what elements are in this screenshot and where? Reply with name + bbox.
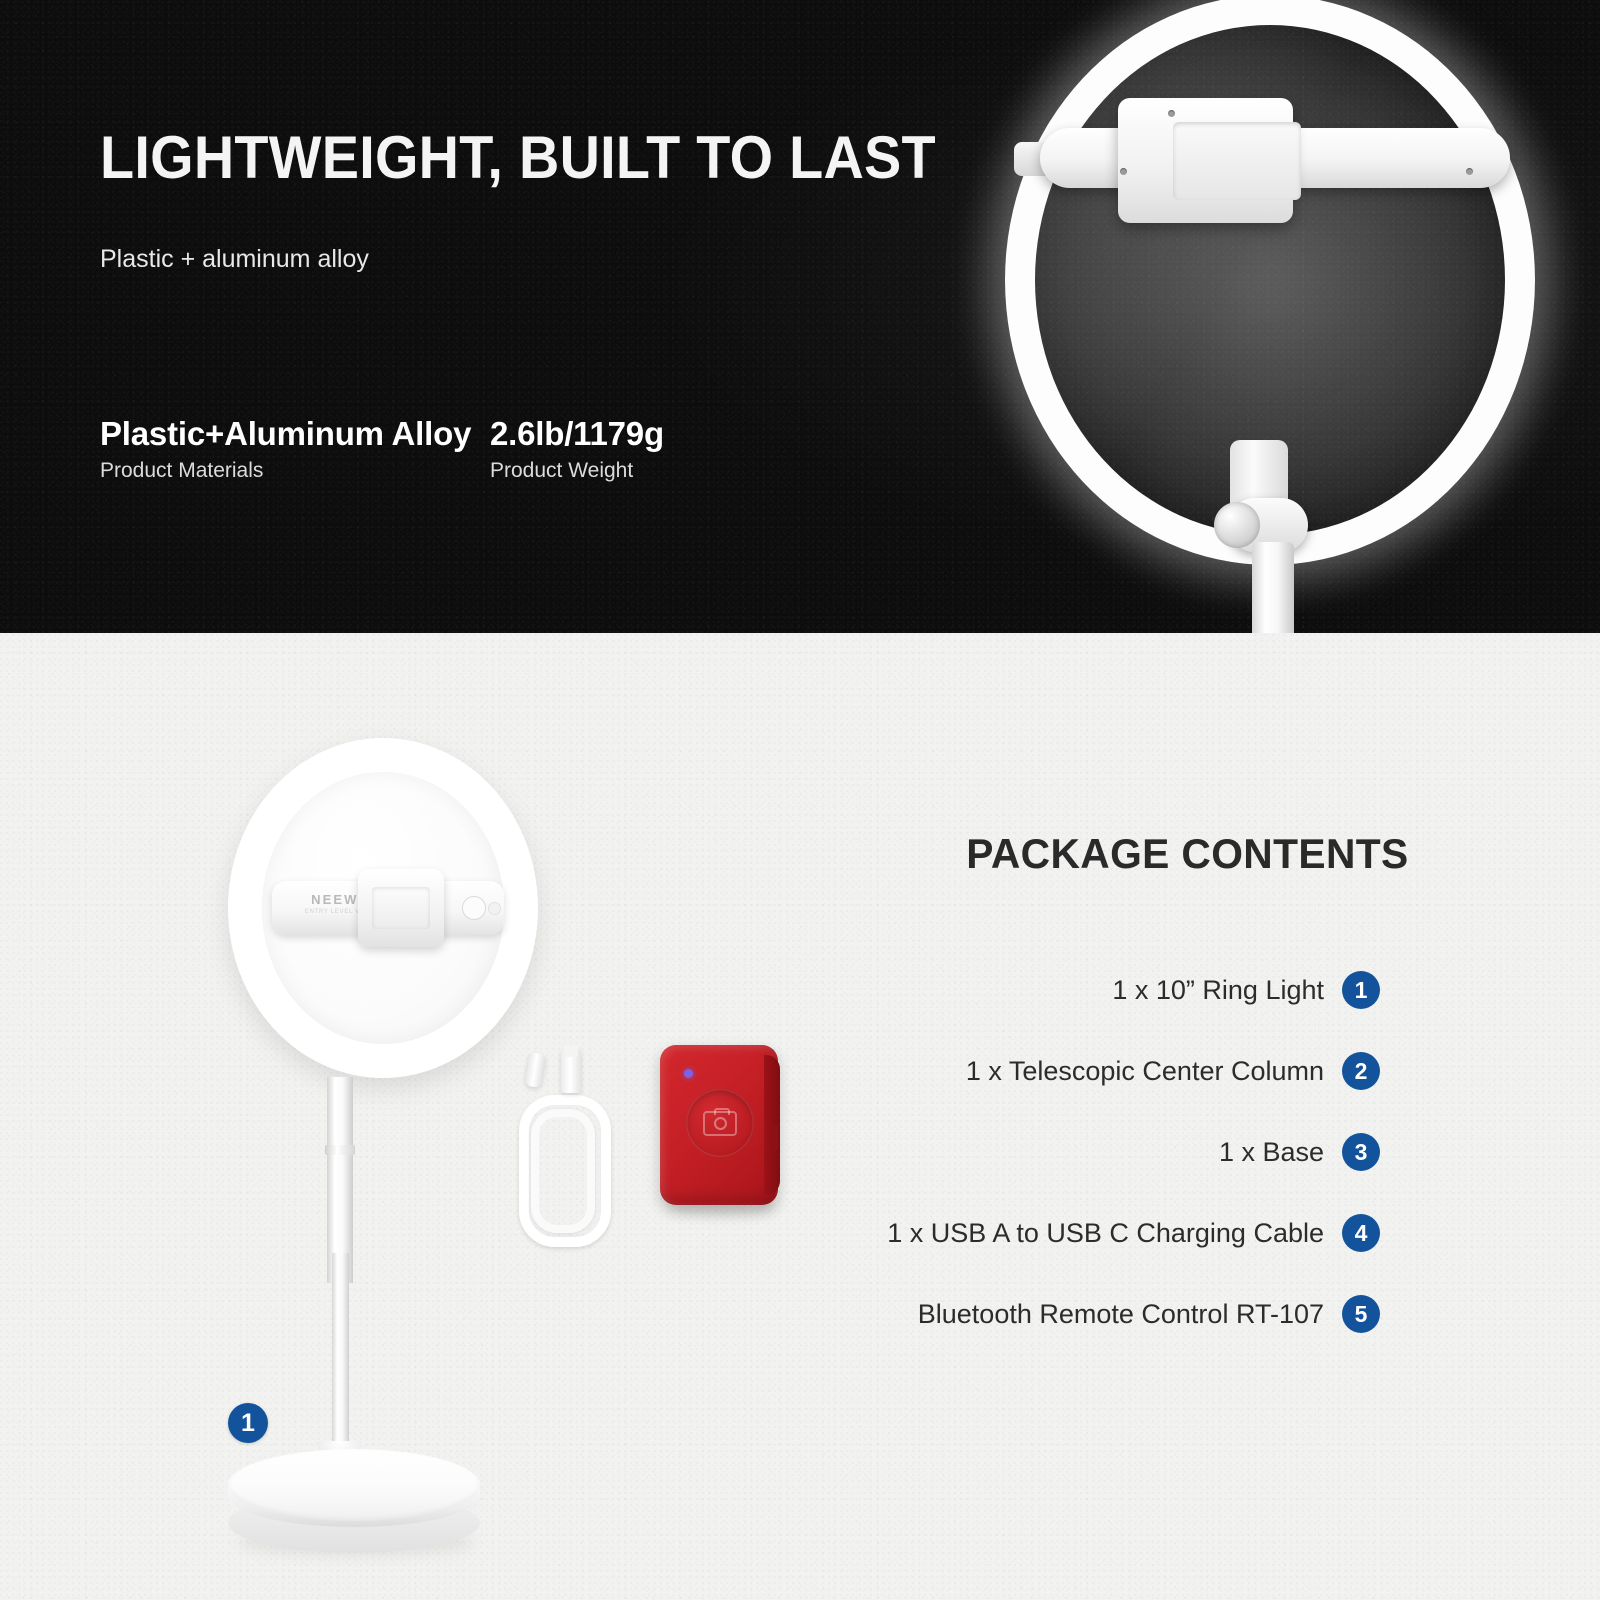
clamp-screw-icon	[1168, 110, 1175, 117]
package-contents-section: NEEWER ENTRY LEVEL VERSION 1 2 3 4 5	[0, 633, 1600, 1600]
phone-clamp-jaw	[372, 887, 430, 929]
power-button-icon	[462, 896, 486, 920]
base-top-surface	[228, 1449, 480, 1521]
spec-weight: 2.6lb/1179g Product Weight	[490, 415, 664, 483]
package-contents-panel: PACKAGE CONTENTS 1 x 10” Ring Light 1 1 …	[960, 833, 1380, 1376]
package-item-label: 1 x Base	[1219, 1139, 1324, 1166]
remote-side-button	[772, 1125, 778, 1151]
hero-spec-row: Plastic+Aluminum Alloy Product Materials…	[100, 415, 664, 483]
list-item: 1 x 10” Ring Light 1	[960, 971, 1380, 1009]
package-item-badge: 1	[1342, 971, 1380, 1009]
package-item-badge: 2	[1342, 1052, 1380, 1090]
phone-clamp-jaw	[1173, 122, 1301, 200]
list-item: 1 x Telescopic Center Column 2	[960, 1052, 1380, 1090]
package-item-label: 1 x USB A to USB C Charging Cable	[887, 1220, 1324, 1247]
list-item: Bluetooth Remote Control RT-107 5	[960, 1295, 1380, 1333]
list-item: 1 x USB A to USB C Charging Cable 4	[960, 1214, 1380, 1252]
spec-materials-value: Plastic+Aluminum Alloy	[100, 415, 490, 453]
bluetooth-remote-image	[660, 1045, 790, 1225]
spec-weight-value: 2.6lb/1179g	[490, 415, 664, 453]
pivot-knob	[1214, 502, 1260, 548]
spec-materials: Plastic+Aluminum Alloy Product Materials	[100, 415, 490, 483]
hero-title: LIGHTWEIGHT, BUILT TO LAST	[100, 128, 936, 188]
spec-weight-label: Product Weight	[490, 459, 664, 483]
list-item: 1 x Base 3	[960, 1133, 1380, 1171]
charging-cable-image	[505, 1043, 625, 1233]
spec-materials-label: Product Materials	[100, 459, 490, 483]
package-item-label: 1 x 10” Ring Light	[1112, 977, 1324, 1004]
usb-a-tip	[564, 1045, 578, 1057]
shutter-button	[686, 1089, 754, 1157]
hero-subtitle: Plastic + aluminum alloy	[100, 245, 369, 274]
cable-coil-inner	[531, 1109, 595, 1233]
package-item-badge: 3	[1342, 1133, 1380, 1171]
led-indicator-icon	[684, 1069, 693, 1078]
product-infographic: LIGHTWEIGHT, BUILT TO LAST Plastic + alu…	[0, 0, 1600, 1600]
camera-icon	[703, 1111, 737, 1136]
telescopic-column-lower	[332, 1253, 349, 1461]
telescopic-column-joint	[325, 1145, 355, 1155]
callout-badge-1: 1	[228, 1403, 268, 1443]
package-item-label: Bluetooth Remote Control RT-107	[918, 1301, 1324, 1328]
remote-body	[660, 1045, 778, 1205]
clamp-screw-icon	[1120, 168, 1127, 175]
hero-section: LIGHTWEIGHT, BUILT TO LAST Plastic + alu…	[0, 0, 1600, 633]
clamp-screw-icon	[1466, 168, 1473, 175]
package-item-badge: 4	[1342, 1214, 1380, 1252]
hero-ring-light-image	[930, 0, 1600, 633]
package-item-badge: 5	[1342, 1295, 1380, 1333]
package-contents-title: PACKAGE CONTENTS	[966, 833, 1373, 875]
package-item-label: 1 x Telescopic Center Column	[966, 1058, 1324, 1085]
mode-button-icon	[488, 902, 501, 915]
package-contents-list: 1 x 10” Ring Light 1 1 x Telescopic Cent…	[960, 971, 1380, 1333]
usb-c-connector	[524, 1052, 546, 1088]
center-column-stem	[1252, 542, 1294, 633]
